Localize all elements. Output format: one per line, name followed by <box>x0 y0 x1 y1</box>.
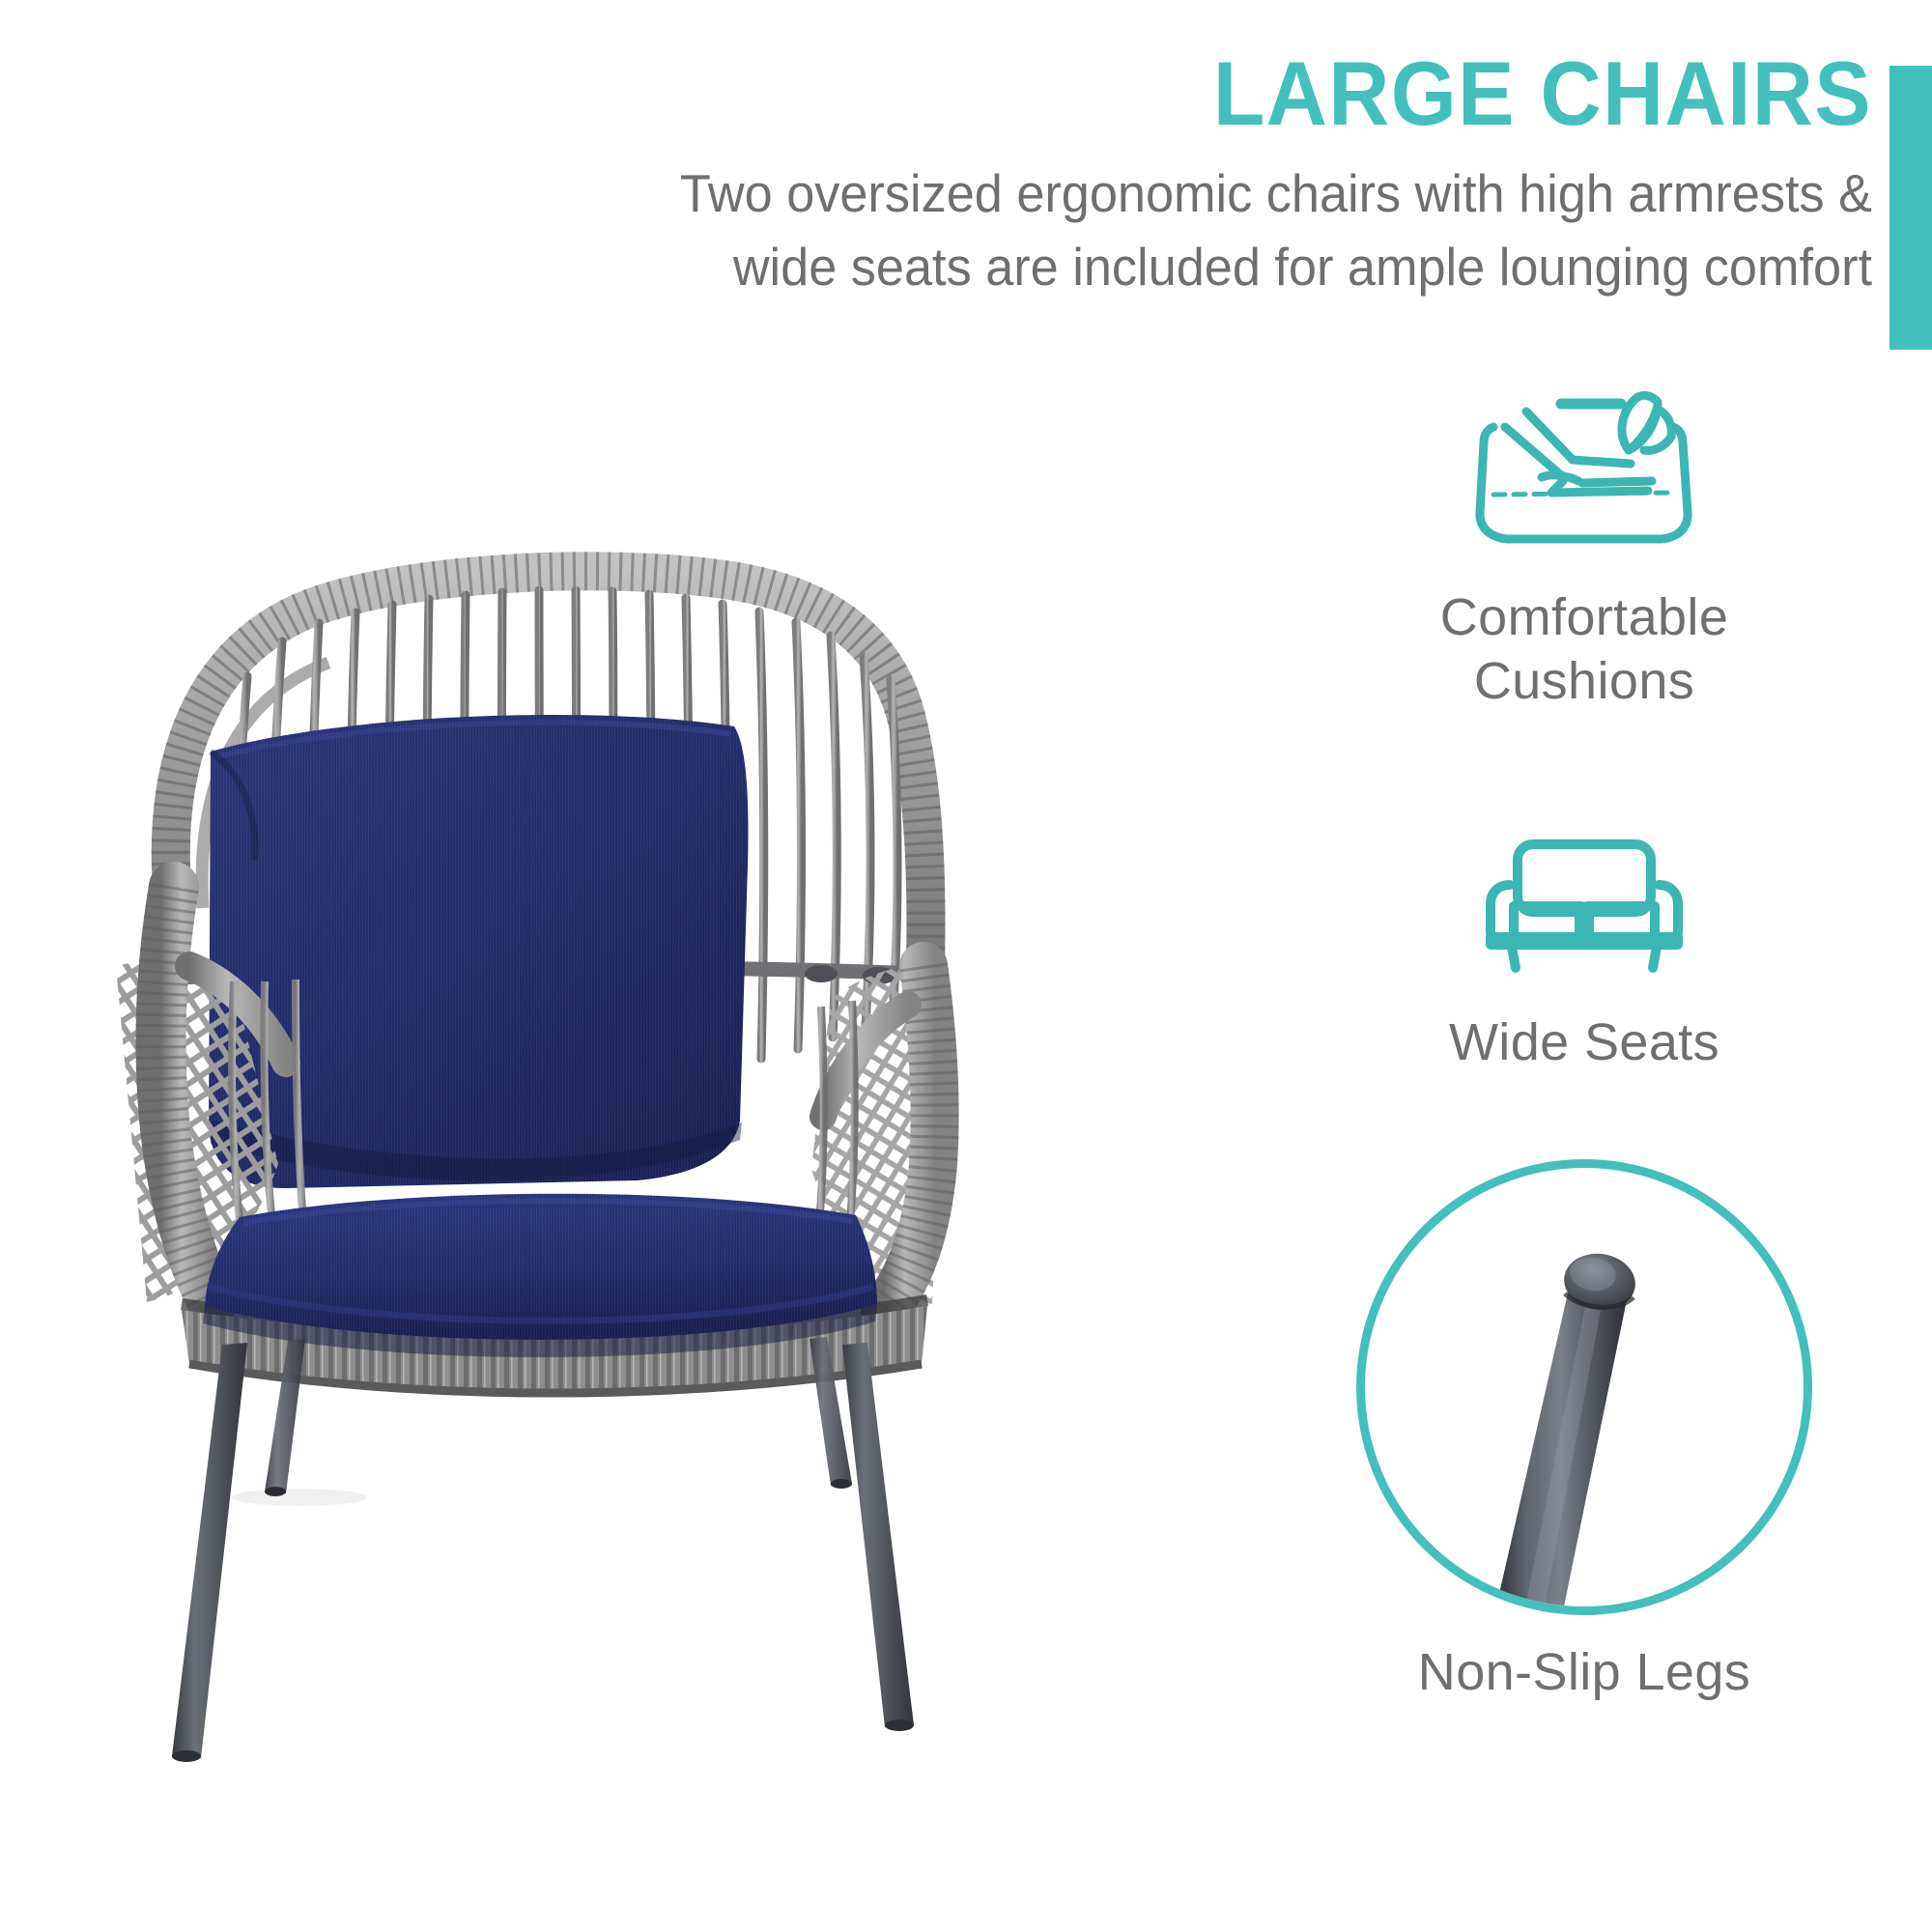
chair-leg-photo-icon <box>1356 1159 1812 1615</box>
sofa-icon <box>1473 831 1695 985</box>
feature-label: Non-Slip Legs <box>1285 1640 1884 1704</box>
leg-photo-circle <box>1356 1159 1812 1615</box>
seat-cushion <box>203 1194 877 1357</box>
feature-comfortable-cushions: Comfortable Cushions <box>1285 367 1884 713</box>
feature-non-slip-legs: Non-Slip Legs <box>1285 1159 1884 1704</box>
feature-label-line-1: Wide Seats <box>1449 1013 1719 1071</box>
cushion-press-icon <box>1459 367 1710 560</box>
feature-wide-seats: Wide Seats <box>1285 831 1884 1074</box>
chair-illustration <box>58 290 1053 1874</box>
feature-label-line-1: Comfortable <box>1440 588 1729 646</box>
feature-label: Wide Seats <box>1285 1010 1884 1074</box>
feature-label-line-1: Non-Slip Legs <box>1418 1643 1750 1701</box>
subtitle: Two oversized ergonomic chairs with high… <box>312 156 1872 303</box>
product-photo <box>58 290 1053 1874</box>
feature-list: Comfortable Cushions <box>1285 367 1884 1874</box>
subtitle-line-2: wide seats are included for ample loungi… <box>733 237 1872 297</box>
feature-label: Comfortable Cushions <box>1285 585 1884 713</box>
subtitle-line-1: Two oversized ergonomic chairs with high… <box>680 163 1872 223</box>
accent-bar <box>1889 66 1932 350</box>
back-cushion <box>209 715 748 1188</box>
feature-label-line-2: Cushions <box>1474 652 1694 710</box>
chair-legs <box>172 1337 914 1762</box>
page-title: LARGE CHAIRS <box>794 46 1872 141</box>
